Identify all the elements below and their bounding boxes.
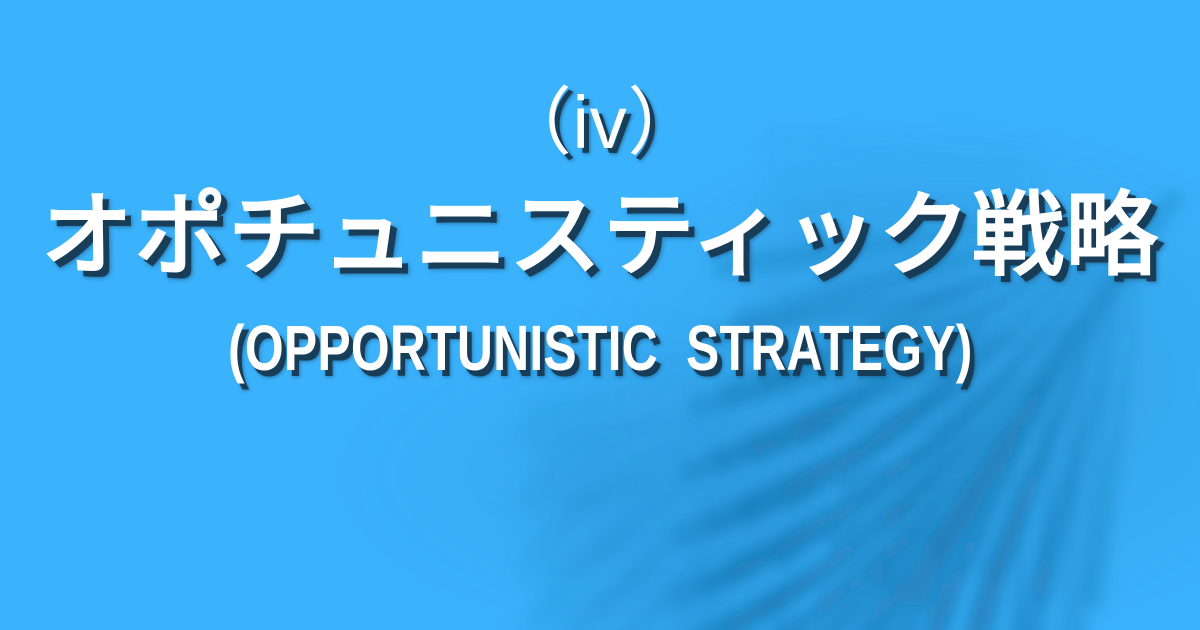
slide-canvas: （iv） オポチュニスティック戦略 (OPPORTUNISTIC STRATEG… xyxy=(0,0,1200,630)
heading-title-japanese: オポチュニスティック戦略 xyxy=(41,190,1159,282)
heading-title-english: (OPPORTUNISTIC STRATEGY) xyxy=(228,316,973,380)
heading-enumerator: （iv） xyxy=(498,86,702,160)
headline-group: （iv） オポチュニスティック戦略 (OPPORTUNISTIC STRATEG… xyxy=(0,0,1200,630)
